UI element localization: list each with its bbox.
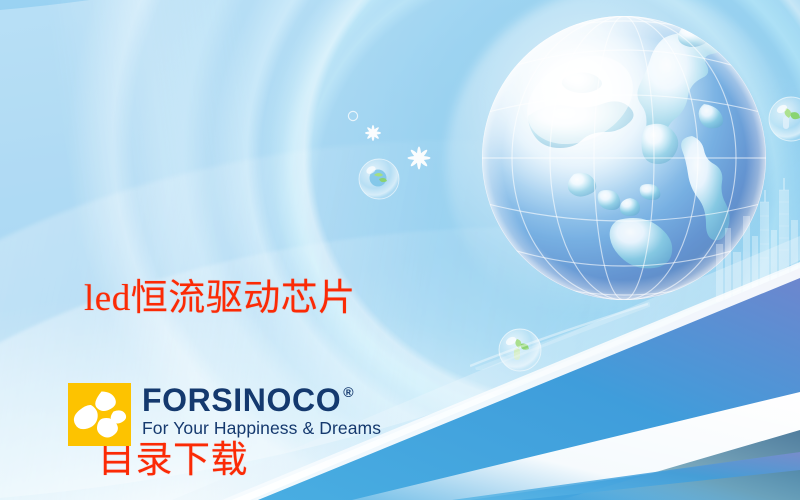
brand-name: FORSINOCO	[142, 384, 341, 416]
banner-canvas: led恒流驱动芯片 目录下载 FORSINOCO ® For Your Happ…	[0, 0, 800, 500]
brand-logo[interactable]: FORSINOCO ® For Your Happiness & Dreams	[68, 383, 381, 446]
registered-trademark-icon: ®	[343, 385, 354, 399]
page-title-line-1: led恒流驱动芯片	[84, 272, 356, 326]
brand-wordmark: FORSINOCO ®	[142, 384, 381, 416]
page-title: led恒流驱动芯片 目录下载	[84, 164, 356, 500]
brand-tagline: For Your Happiness & Dreams	[142, 418, 381, 438]
brand-logo-text: FORSINOCO ® For Your Happiness & Dreams	[142, 383, 381, 438]
four-petal-pinwheel-icon	[68, 383, 131, 446]
